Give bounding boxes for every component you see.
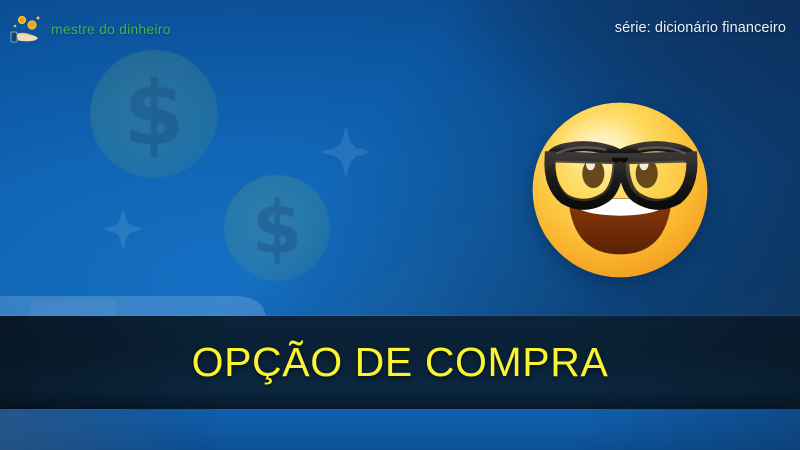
dollar-coin-small: $	[224, 175, 330, 281]
dollar-sign-icon: $	[123, 70, 184, 158]
series-label: série: dicionário financeiro	[615, 20, 786, 36]
hand-holding-coins-icon	[10, 14, 44, 44]
brand-logo-text: mestre do dinheiro	[51, 21, 171, 37]
dollar-coin-large: $	[90, 50, 218, 178]
nerd-face-emoji	[528, 98, 712, 282]
brand-logo[interactable]: mestre do dinheiro	[10, 14, 171, 44]
dollar-sign-icon: $	[252, 192, 302, 264]
page-title: OPÇÃO DE COMPRA	[0, 316, 800, 409]
slide-canvas: $ $ mestre do dinheiro série: dicionário	[0, 0, 800, 450]
